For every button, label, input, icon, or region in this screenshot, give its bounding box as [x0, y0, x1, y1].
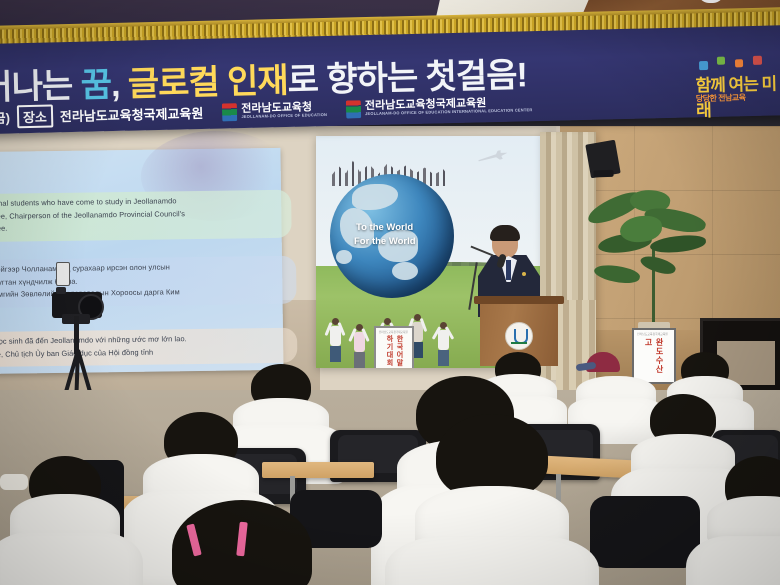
- jeollanamdo-logo-icon: [222, 103, 237, 121]
- jacket-on-chair: [590, 496, 700, 568]
- emblem-line2: 당당한 전남교육: [696, 92, 746, 104]
- poster-child: [354, 324, 364, 368]
- banner-emblem: 함께 여는 미래 당당한 전남교육: [695, 63, 780, 109]
- banner-place-value: 전라남도교육청국제교육원: [60, 103, 204, 125]
- banner-headline-part: 첫걸음!: [425, 56, 527, 96]
- banner-headline-part: 로 향하는: [287, 59, 426, 100]
- poster-child: [330, 318, 340, 362]
- potted-plant-icon: [590, 180, 720, 340]
- jeollanamdo-intl-logo-icon: [346, 100, 361, 118]
- poster-standing-sign: 전라남도교육청국제교육원 한국어말하기대회: [374, 326, 414, 368]
- audience-person: [0, 466, 140, 585]
- school-sign-caption: 전라남도교육청국제교육원: [637, 332, 668, 336]
- desk: [262, 462, 374, 478]
- banner-logo-office: 전라남도교육청 JEOLLANAM-DO OFFICE OF EDUCATION: [222, 100, 327, 120]
- banner-headline-part: 어나는: [0, 67, 81, 107]
- poster-child: [438, 322, 448, 366]
- poster-slogan-line1: To the World: [356, 222, 413, 233]
- banner-headline-part: 글로컬 인재: [127, 62, 288, 104]
- globe-graphic: To the World For the World: [330, 174, 454, 298]
- venue-corner-logo: 전라남: [698, 0, 776, 3]
- poster-slogan-line2: For the World: [354, 236, 416, 247]
- tripod-icon: [30, 258, 126, 408]
- audience-person: [696, 462, 780, 582]
- slide-line: ttee.: [0, 220, 283, 235]
- lapel-pin: [522, 272, 526, 276]
- poster-sign-caption: 전라남도교육청국제교육원: [379, 330, 408, 334]
- podium-emblem: [505, 322, 533, 350]
- phone-on-camera: [56, 262, 70, 286]
- banner-logo-center: 전라남도교육청국제교육원 JEOLLANAM-DO OFFICE OF EDUC…: [346, 96, 533, 118]
- audience-person: [392, 440, 592, 585]
- banner-headline-part: ,: [111, 66, 129, 104]
- photo-scene: ional students who have come to study in…: [0, 0, 780, 585]
- slide-bubble-english: ional students who have come to study in…: [0, 190, 292, 242]
- banner-place-label: 장소: [17, 104, 53, 128]
- podium-top: [474, 296, 564, 304]
- banner-date: . (금): [0, 107, 10, 127]
- event-banner: 어나는 꿈, 글로컬 인재로 향하는 첫걸음! . (금) 장소 전라남도교육청…: [0, 9, 780, 136]
- banner-logo-sub: JEOLLANAM-DO OFFICE OF EDUCATION: [241, 113, 327, 119]
- banner-headline-part: 꿈: [80, 66, 111, 105]
- wall-speaker-icon: [585, 140, 620, 179]
- venue-logo-icon: [698, 0, 724, 3]
- venue-logo-text: 전라남: [729, 0, 776, 3]
- poster-sign-text: 한국어말하기대회: [384, 335, 404, 368]
